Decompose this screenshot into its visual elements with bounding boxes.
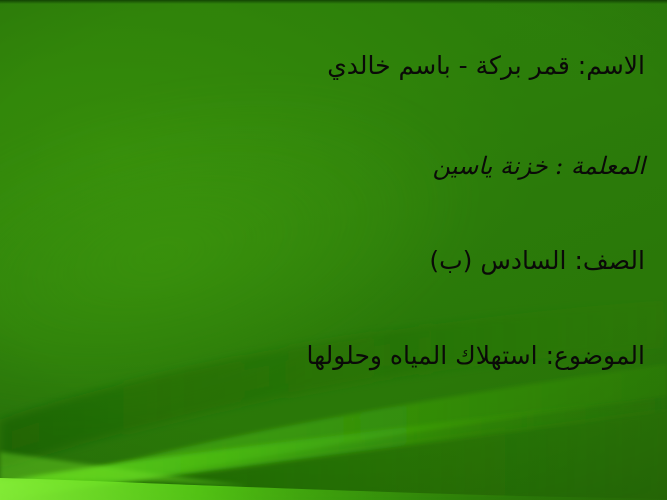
slide-line-teacher: المعلمة : خزنة ياسين: [433, 152, 645, 182]
slide-line-grade: الصف: السادس (ب): [429, 245, 645, 276]
presentation-slide: الاسم: قمر بركة - باسم خالدي المعلمة : خ…: [0, 0, 667, 500]
slide-line-name: الاسم: قمر بركة - باسم خالدي: [327, 50, 645, 81]
slide-line-subject: الموضوع: استهلاك المياه وحلولها: [307, 340, 646, 371]
